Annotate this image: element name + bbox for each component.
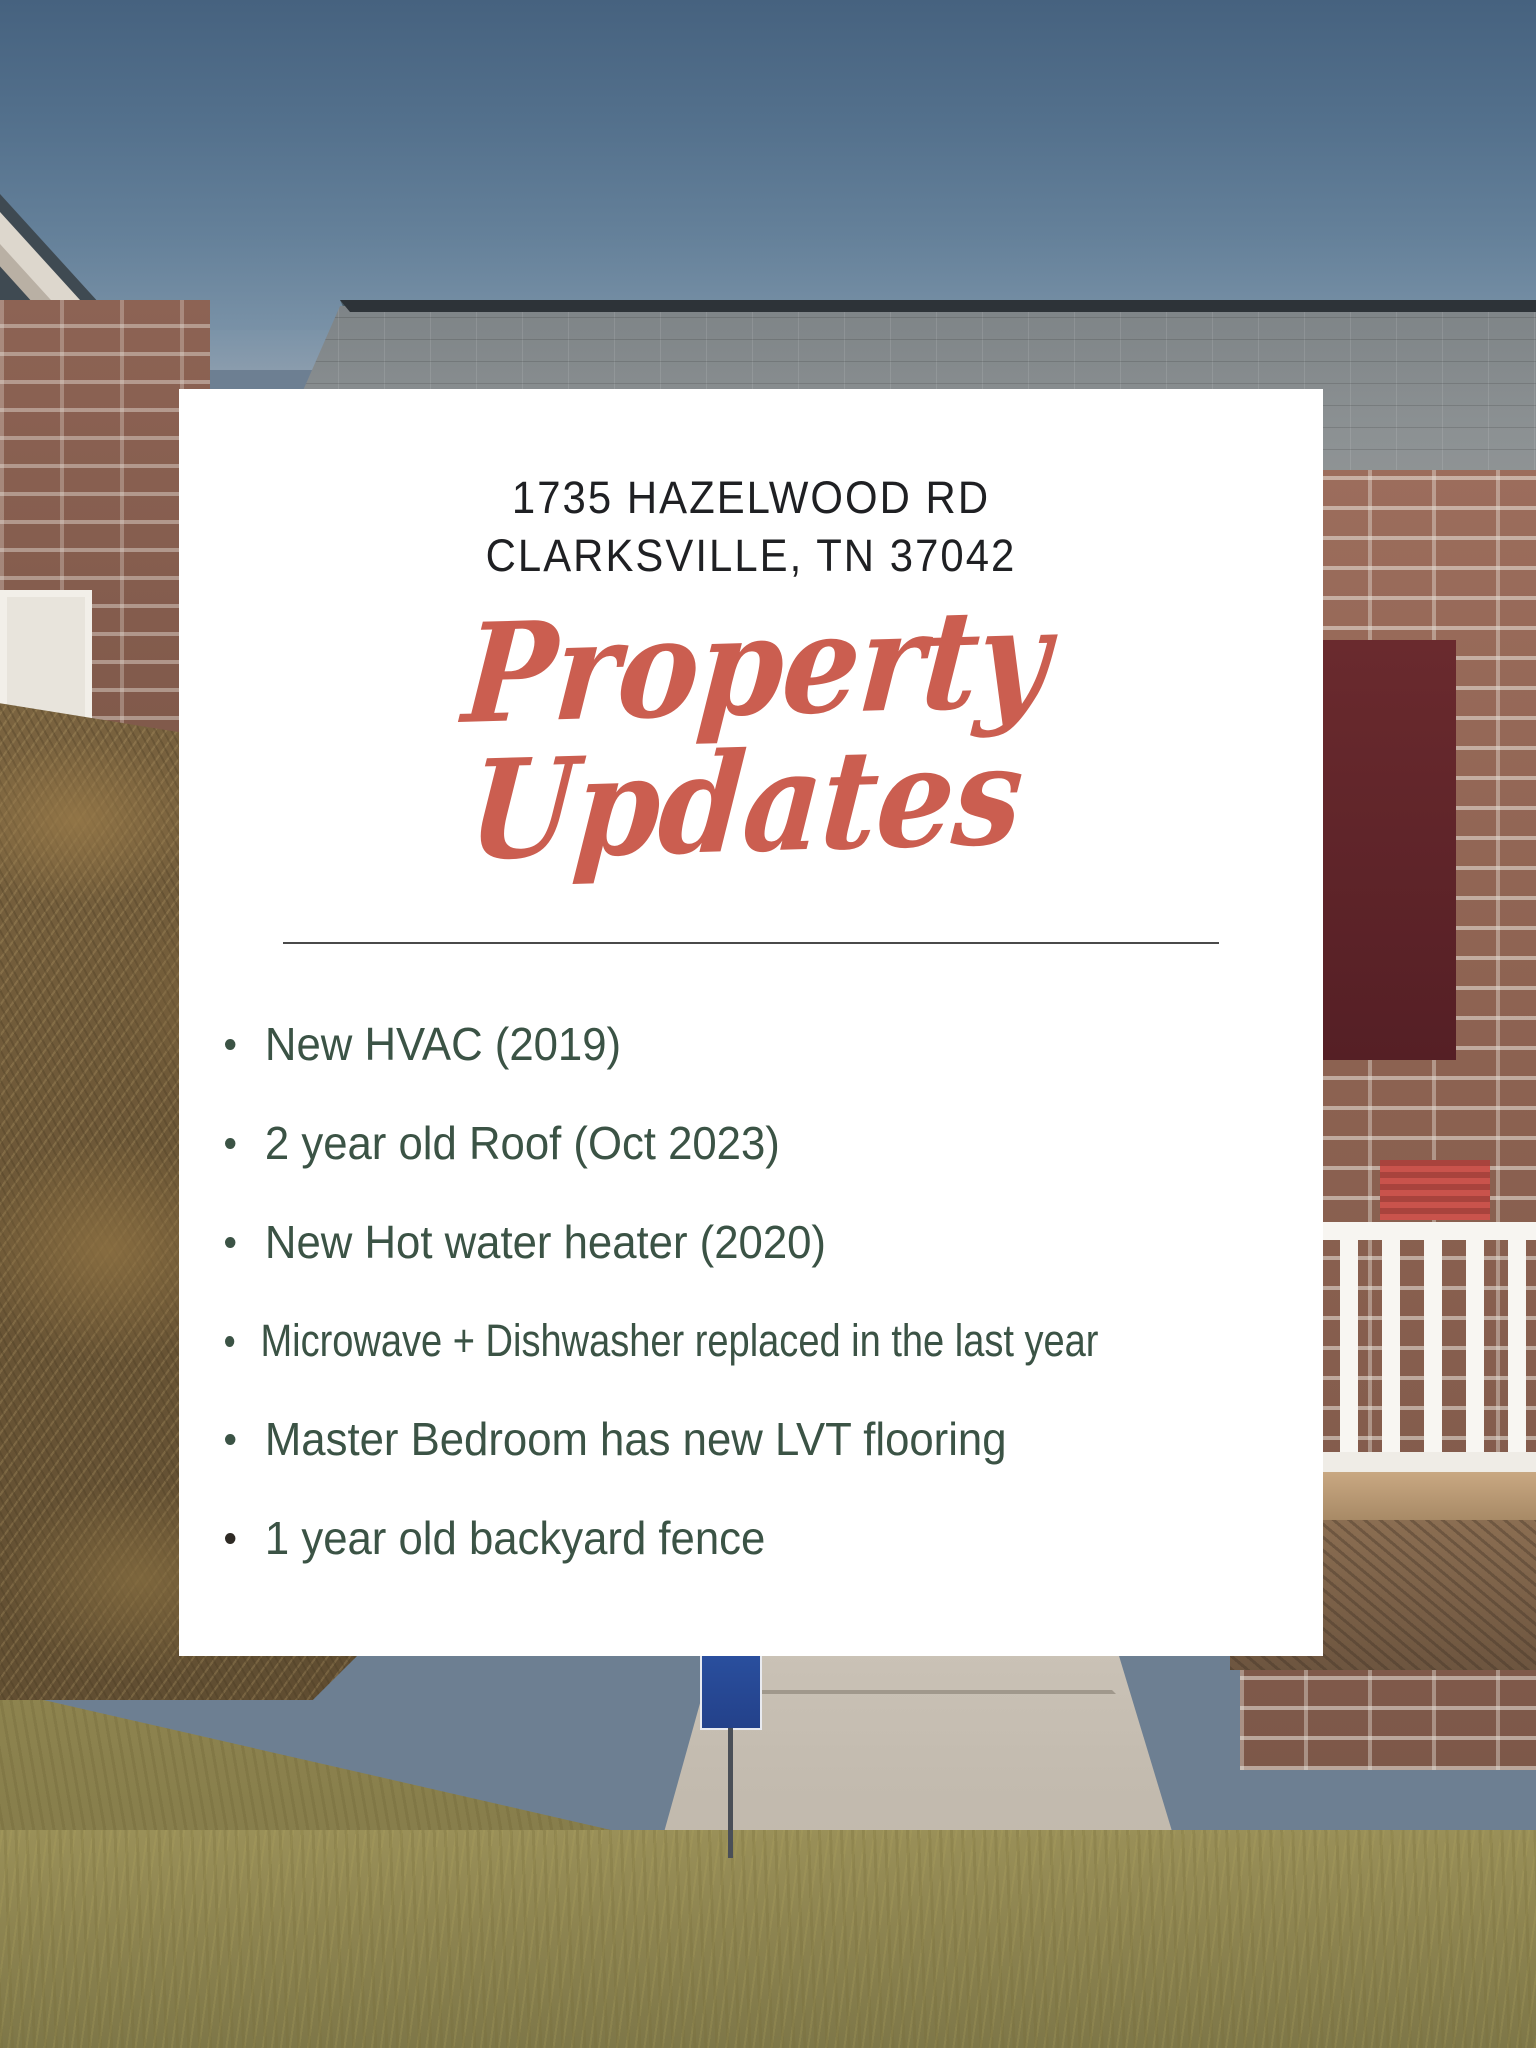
- property-updates-list: New HVAC (2019) 2 year old Roof (Oct 202…: [179, 1018, 1323, 1564]
- list-item: Master Bedroom has new LVT flooring: [225, 1413, 1268, 1466]
- roof-ridge-line: [200, 300, 1536, 312]
- list-item-label: 1 year old backyard fence: [265, 1512, 765, 1564]
- list-item-label: Master Bedroom has new LVT flooring: [265, 1413, 1007, 1465]
- list-item: 2 year old Roof (Oct 2023): [225, 1117, 1268, 1170]
- bullet-dot-icon: [225, 1533, 235, 1544]
- lawn-front: [0, 1830, 1536, 2048]
- porch-shutter: [1380, 1160, 1490, 1220]
- bullet-dot-icon: [225, 1434, 235, 1445]
- porch-recess: [1306, 640, 1456, 1060]
- sky-region: [0, 0, 1536, 340]
- address-block: 1735 HAZELWOOD RD CLARKSVILLE, TN 37042: [179, 389, 1323, 584]
- list-item-label: 2 year old Roof (Oct 2023): [265, 1117, 780, 1169]
- list-item: New Hot water heater (2020): [225, 1216, 1268, 1269]
- list-item: 1 year old backyard fence: [225, 1512, 1268, 1565]
- property-updates-card: 1735 HAZELWOOD RD CLARKSVILLE, TN 37042 …: [179, 389, 1323, 1656]
- flyer-canvas: 1735 HAZELWOOD RD CLARKSVILLE, TN 37042 …: [0, 0, 1536, 2048]
- address-line-2: CLARKSVILLE, TN 37042: [219, 527, 1283, 585]
- list-item: Microwave + Dishwasher replaced in the l…: [225, 1315, 1153, 1367]
- bullet-dot-icon: [225, 1039, 235, 1050]
- bullet-dot-icon: [225, 1237, 235, 1248]
- list-item-label: Microwave + Dishwasher replaced in the l…: [260, 1315, 1098, 1366]
- yard-sign-post: [728, 1728, 733, 1858]
- list-item-label: New Hot water heater (2020): [265, 1216, 826, 1268]
- list-item-label: New HVAC (2019): [265, 1018, 621, 1070]
- title-divider: [283, 942, 1219, 944]
- list-item: New HVAC (2019): [225, 1018, 1268, 1071]
- bullet-dot-icon: [225, 1336, 234, 1347]
- yard-sign: [700, 1652, 762, 1730]
- bullet-dot-icon: [225, 1138, 235, 1149]
- card-title: Property Updates: [169, 581, 1334, 887]
- address-line-1: 1735 HAZELWOOD RD: [219, 469, 1283, 527]
